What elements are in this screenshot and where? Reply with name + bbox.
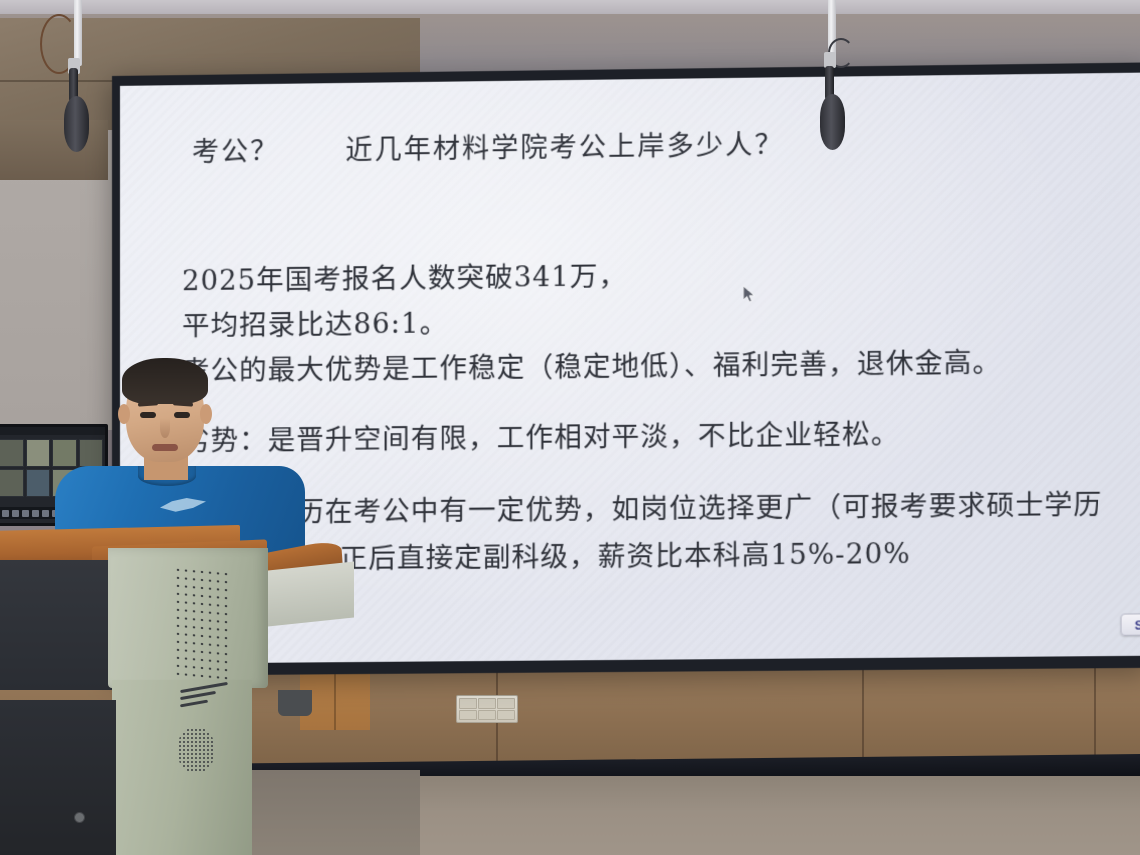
- mic-capsule: [820, 94, 845, 150]
- toolbar-icon[interactable]: [22, 510, 29, 517]
- podium-fingerprint-pattern: [178, 728, 214, 772]
- slide-line-1: 2025年国考报名人数突破341万，: [182, 249, 1131, 303]
- camera-thumbnail[interactable]: [0, 439, 24, 467]
- slide-title-right: 近几年材料学院考公上岸多少人？: [345, 130, 783, 167]
- slide-line-2: 平均招录比达86:1。: [182, 295, 1131, 349]
- screen-corner-chip[interactable]: S: [1121, 613, 1140, 635]
- mic-capsule: [64, 96, 89, 152]
- outlet-socket: [459, 710, 477, 721]
- lecture-hall-screenshot: 考公？近几年材料学院考公上岸多少人？ 2025年国考报名人数突破341万， 平均…: [0, 0, 1140, 855]
- presenter-eye-right: [174, 412, 190, 418]
- presenter-ear-left: [118, 404, 130, 424]
- slide-title: 考公？近几年材料学院考公上岸多少人？: [192, 123, 784, 169]
- presenter-mouth: [152, 444, 178, 451]
- presenter-nose: [160, 418, 170, 438]
- camera-thumbnail[interactable]: [26, 439, 51, 467]
- outlet-socket: [459, 698, 477, 709]
- camera-thumbnail[interactable]: [0, 469, 24, 497]
- outlet-socket: [497, 710, 515, 721]
- ceiling-microphone-right: [806, 0, 866, 154]
- outlet-socket: [478, 698, 496, 709]
- toolbar-icon[interactable]: [42, 510, 49, 517]
- presenter-hair: [122, 358, 208, 404]
- slide-title-left: 考公？: [192, 136, 279, 168]
- slide-highlight-rest: 学历在考公中有一定优势，如岗位选择更广（可报考要求硕: [268, 489, 1016, 528]
- wall-seam: [862, 660, 864, 770]
- podium-shelf: [268, 561, 354, 626]
- outlet-socket: [497, 698, 515, 709]
- camera-thumbnail[interactable]: [26, 469, 51, 497]
- toolbar-icon[interactable]: [12, 510, 19, 517]
- podium-dark-panel-lower: [0, 700, 116, 855]
- podium-speaker-perforation: [174, 566, 230, 685]
- ceiling-microphone-left: [52, 0, 112, 146]
- toolbar-icon[interactable]: [2, 510, 9, 517]
- outlet-socket: [478, 710, 496, 721]
- podium-vent-slot: [180, 700, 208, 708]
- podium-leg: [278, 690, 312, 716]
- podium-dark-panel-upper: [0, 560, 120, 690]
- toolbar-icon[interactable]: [32, 510, 39, 517]
- presenter-eye-left: [140, 412, 156, 418]
- podium-vent-slot: [180, 682, 228, 693]
- wall-outlet-panel[interactable]: [456, 695, 518, 723]
- presenter-ear-right: [200, 404, 212, 424]
